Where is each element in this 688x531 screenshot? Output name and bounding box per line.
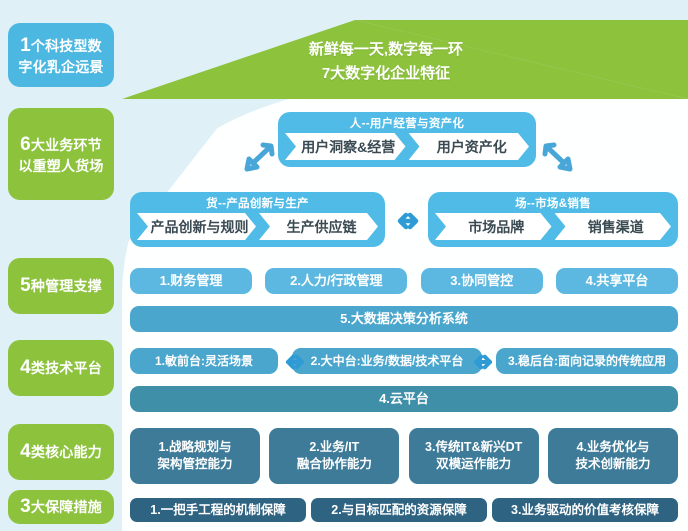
panel-chang-step-1[interactable]: 市场品牌 [435,213,552,240]
panel-huo-step-1[interactable]: 产品创新与规则 [137,213,256,240]
core-capability-item-3-line1: 3.传统IT&新兴DT [425,440,522,454]
core-capability-item-4-line2: 技术创新能力 [575,457,650,471]
panel-ren-step-1[interactable]: 用户洞察&经营 [285,133,406,160]
bigdata-row: 5.大数据决策分析系统 [130,306,678,332]
sidebar-item-business-num: 6 [20,134,31,155]
guarantee-item-2[interactable]: 2.与目标匹配的资源保障 [311,498,487,522]
core-capability-item-3[interactable]: 3.传统IT&新兴DT 双模运作能力 [409,428,539,484]
panel-chang-steps: 市场品牌 销售渠道 [435,213,671,240]
sidebar-item-business-label: 大业务环节 [31,137,102,153]
diagonal-arrow-right-icon [542,142,574,172]
panel-chang[interactable]: 场--市场&销售 市场品牌 销售渠道 [428,192,678,247]
guarantee-item-3[interactable]: 3.业务驱动的价值考核保障 [492,498,678,522]
sidebar-item-guarantee-label: 大保障措施 [31,499,102,515]
cloud-item[interactable]: 4.云平台 [130,386,678,412]
panel-huo-title: 货--产品创新与生产 [137,196,378,213]
management-item-4[interactable]: 4.共享平台 [556,268,678,294]
management-item-2[interactable]: 2.人力/行政管理 [265,268,407,294]
technology-item-2[interactable]: 2.大中台:业务/数据/技术平台 [292,348,482,374]
bigdata-item[interactable]: 5.大数据决策分析系统 [130,306,678,332]
management-item-3[interactable]: 3.协同管控 [421,268,543,294]
roof-title-line2: 7大数字化企业特征 [196,62,576,86]
diagonal-arrow-left-icon [243,142,275,172]
sidebar-item-business-label2: 以重塑人货场 [18,158,103,174]
panel-ren-steps: 用户洞察&经营 用户资产化 [285,133,529,160]
panel-huo-steps: 产品创新与规则 生产供应链 [137,213,378,240]
cloud-row: 4.云平台 [130,386,678,412]
core-capability-item-2-line2: 融合协作能力 [297,457,372,471]
sidebar-item-technology[interactable]: 4类技术平台 [8,340,114,396]
panel-ren-step-2[interactable]: 用户资产化 [409,133,530,160]
roof-title-line1: 新鲜每一天,数字每一环 [196,38,576,62]
panel-ren[interactable]: 人--用户经营与资产化 用户洞察&经营 用户资产化 [278,112,536,167]
sidebar-item-guarantee[interactable]: 3大保障措施 [8,490,114,524]
sidebar-item-core-label: 类核心能力 [31,444,102,460]
sidebar-item-management[interactable]: 5种管理支撑 [8,258,114,314]
sidebar-item-vision-label2: 字化乳企远景 [18,59,103,75]
tech-arrow-1-icon [280,352,310,372]
panel-chang-step-2[interactable]: 销售渠道 [555,213,672,240]
sidebar-item-vision-num: 1 [20,35,31,56]
sidebar: 1个科技型数 字化乳企远景 6大业务环节 以重塑人货场 5种管理支撑 4类技术平… [0,0,122,531]
core-capability-item-4[interactable]: 4.业务优化与 技术创新能力 [548,428,678,484]
guarantee-item-1[interactable]: 1.一把手工程的机制保障 [130,498,306,522]
core-capability-item-1-line2: 架构管控能力 [157,457,232,471]
roof-title: 新鲜每一天,数字每一环 7大数字化企业特征 [196,38,576,86]
sidebar-item-vision-label: 个科技型数 [31,38,102,54]
tech-arrow-2-icon [468,352,498,372]
panel-huo-step-2[interactable]: 生产供应链 [259,213,378,240]
guarantee-row: 1.一把手工程的机制保障 2.与目标匹配的资源保障 3.业务驱动的价值考核保障 [130,498,678,522]
core-capability-item-1[interactable]: 1.战略规划与 架构管控能力 [130,428,260,484]
core-capability-item-2[interactable]: 2.业务/IT 融合协作能力 [269,428,399,484]
technology-item-1[interactable]: 1.敏前台:灵活场景 [130,348,278,374]
technology-item-3[interactable]: 3.稳后台:面向记录的传统应用 [496,348,678,374]
management-item-1[interactable]: 1.财务管理 [130,268,252,294]
core-capability-row: 1.战略规划与 架构管控能力 2.业务/IT 融合协作能力 3.传统IT&新兴D… [130,428,678,484]
infographic-canvas: 新鲜每一天,数字每一环 7大数字化企业特征 1个科技型数 字化乳企远景 6大业务… [0,0,688,531]
core-capability-item-3-line2: 双模运作能力 [436,457,511,471]
horizontal-arrow-icon [391,210,425,232]
sidebar-item-management-label: 种管理支撑 [31,278,102,294]
core-capability-item-2-line1: 2.业务/IT [309,440,359,454]
panel-huo[interactable]: 货--产品创新与生产 产品创新与规则 生产供应链 [130,192,385,247]
sidebar-item-management-num: 5 [20,275,31,296]
core-capability-item-4-line1: 4.业务优化与 [577,440,650,454]
sidebar-item-core-num: 4 [20,441,31,462]
core-capability-item-1-line1: 1.战略规划与 [159,440,232,454]
technology-row: 1.敏前台:灵活场景 2.大中台:业务/数据/技术平台 3.稳后台:面向记录的传… [130,348,678,374]
sidebar-item-business[interactable]: 6大业务环节 以重塑人货场 [8,108,114,200]
panel-chang-title: 场--市场&销售 [435,196,671,213]
management-row: 1.财务管理 2.人力/行政管理 3.协同管控 4.共享平台 [130,268,678,294]
sidebar-item-vision[interactable]: 1个科技型数 字化乳企远景 [8,23,114,87]
sidebar-item-core-capability[interactable]: 4类核心能力 [8,424,114,480]
sidebar-item-guarantee-num: 3 [20,496,31,517]
sidebar-item-technology-label: 类技术平台 [31,360,102,376]
sidebar-item-technology-num: 4 [20,357,31,378]
panel-ren-title: 人--用户经营与资产化 [285,116,529,133]
